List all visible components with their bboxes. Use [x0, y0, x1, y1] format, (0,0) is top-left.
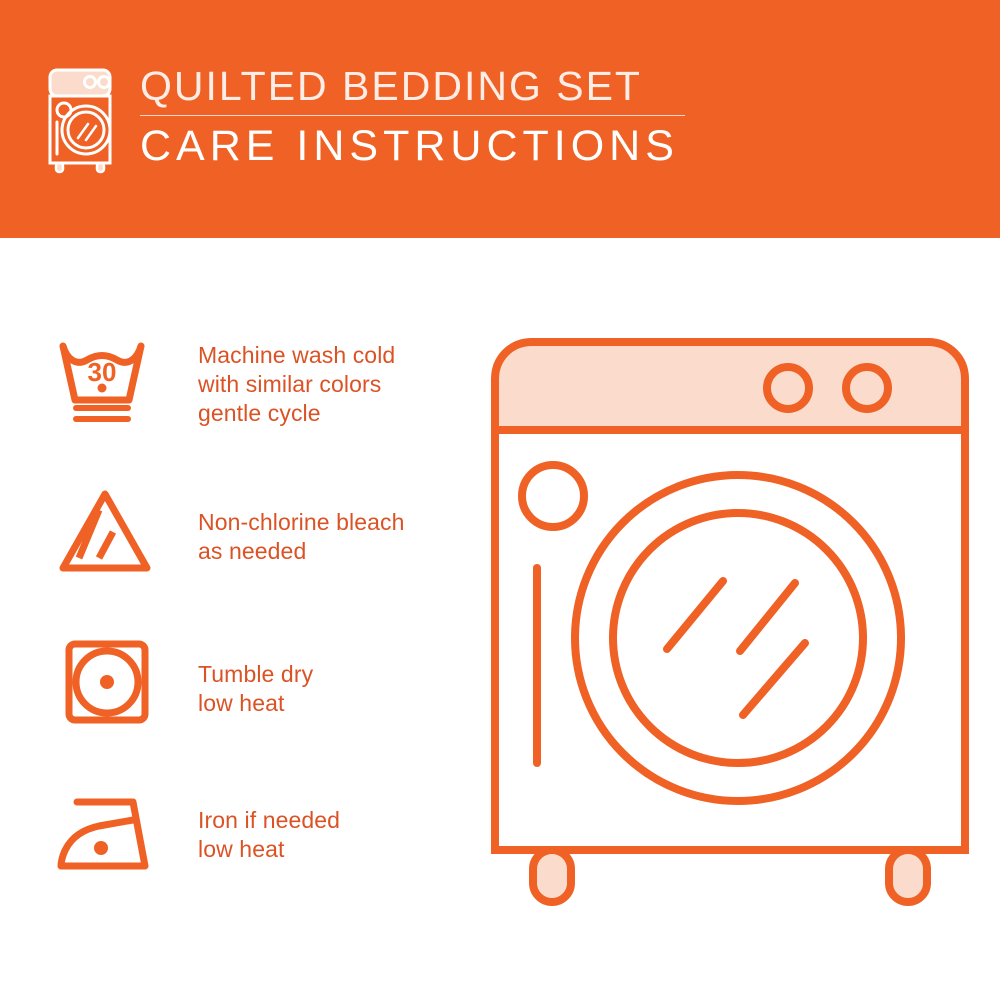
care-label-tumble-dry: Tumble dry low heat	[170, 636, 313, 718]
washing-machine-icon	[42, 66, 120, 176]
care-item-tumble-dry: Tumble dry low heat	[48, 636, 468, 728]
content-area: 30 Machine wash cold with similar colors…	[0, 238, 1000, 1000]
header-title-block: QUILTED BEDDING SET CARE INSTRUCTIONS	[140, 62, 685, 170]
care-item-bleach: Non-chlorine bleach as needed	[48, 486, 468, 578]
bleach-triangle-icon	[55, 486, 163, 578]
wash-temperature-label: 30	[88, 357, 117, 387]
care-label-iron: Iron if needed low heat	[170, 788, 340, 864]
iron-heat-dot	[94, 841, 108, 855]
tumble-dry-heat-dot	[100, 675, 114, 689]
wash-tub-30-icon: 30	[55, 338, 163, 430]
washing-machine-illustration	[485, 333, 975, 933]
machine-body	[495, 430, 965, 850]
care-icon-slot: 30	[48, 338, 170, 430]
page-title: QUILTED BEDDING SET	[140, 64, 685, 108]
control-panel	[495, 342, 965, 430]
care-item-iron: Iron if needed low heat	[48, 788, 468, 880]
header-banner: QUILTED BEDDING SET CARE INSTRUCTIONS	[0, 0, 1000, 238]
page-subtitle: CARE INSTRUCTIONS	[140, 122, 685, 170]
wash-gentle-dot	[98, 384, 107, 393]
care-icon-slot	[48, 636, 170, 728]
foot-right	[889, 850, 927, 902]
knob-left	[767, 367, 809, 409]
care-icon-slot	[48, 788, 170, 880]
care-icon-slot	[48, 486, 170, 578]
gentle-bar-1	[73, 405, 131, 411]
foot-left	[533, 850, 571, 902]
title-divider	[140, 115, 685, 116]
care-label-bleach: Non-chlorine bleach as needed	[170, 486, 404, 566]
iron-low-heat-icon	[55, 788, 163, 880]
care-label-wash: Machine wash cold with similar colors ge…	[170, 338, 395, 428]
knob-right	[846, 367, 888, 409]
care-item-wash: 30 Machine wash cold with similar colors…	[48, 338, 468, 430]
tumble-dry-low-icon	[55, 636, 163, 728]
header-content: QUILTED BEDDING SET CARE INSTRUCTIONS	[42, 62, 685, 176]
gentle-bar-2	[73, 416, 131, 422]
